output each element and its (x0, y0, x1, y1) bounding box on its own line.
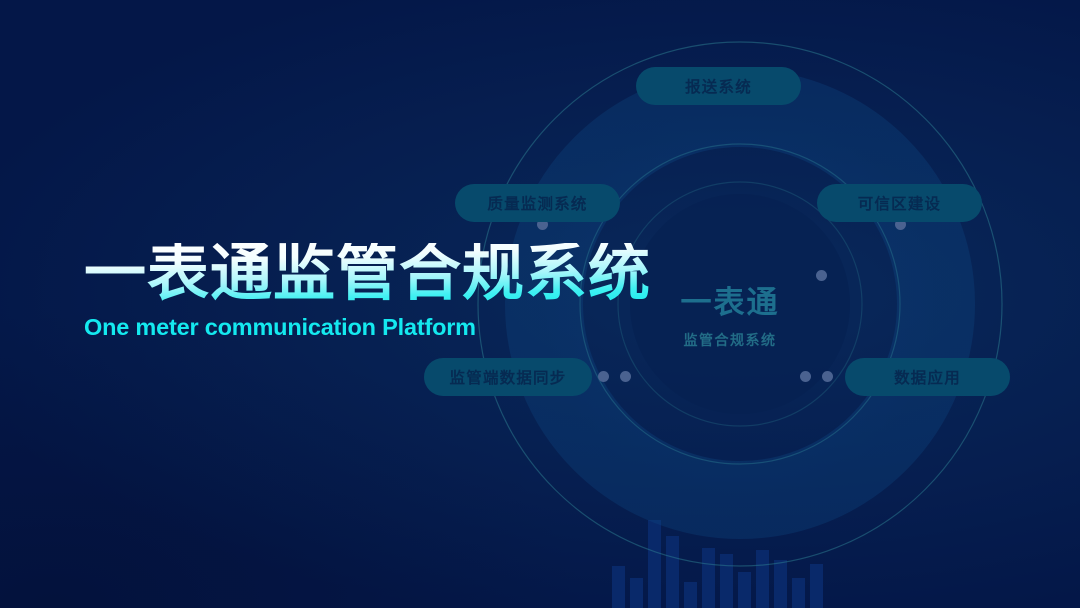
connector-dot-right (816, 270, 827, 281)
node-pill-baosong[interactable]: 报送系统 (636, 67, 801, 105)
connector-dot-lower-right-outer (822, 371, 833, 382)
decorative-bar (630, 578, 643, 608)
connector-dot-lower-left-outer (598, 371, 609, 382)
node-pill-jianguanduan[interactable]: 监管端数据同步 (424, 358, 592, 396)
node-pill-zhiliang[interactable]: 质量监测系统 (455, 184, 620, 222)
decorative-bar (792, 578, 805, 608)
connector-dot-lower-left-inner (620, 371, 631, 382)
node-pill-label: 可信区建设 (858, 192, 942, 214)
slide-canvas: 一表通 监管合规系统 报送系统 质量监测系统 可信区建设 监管端数据同步 数据应… (0, 0, 1080, 608)
decorative-bar (684, 582, 697, 608)
decorative-bar (738, 572, 751, 608)
node-pill-label: 报送系统 (685, 75, 752, 97)
hub-disc (630, 194, 850, 414)
node-pill-label: 数据应用 (894, 366, 961, 388)
connector-dot-lower-right-inner (800, 371, 811, 382)
node-pill-kexinqu[interactable]: 可信区建设 (817, 184, 982, 222)
node-pill-label: 质量监测系统 (487, 192, 587, 214)
orbit-diagram (470, 34, 1010, 574)
node-pill-label: 监管端数据同步 (450, 366, 567, 388)
node-pill-shujuyingyong[interactable]: 数据应用 (845, 358, 1010, 396)
